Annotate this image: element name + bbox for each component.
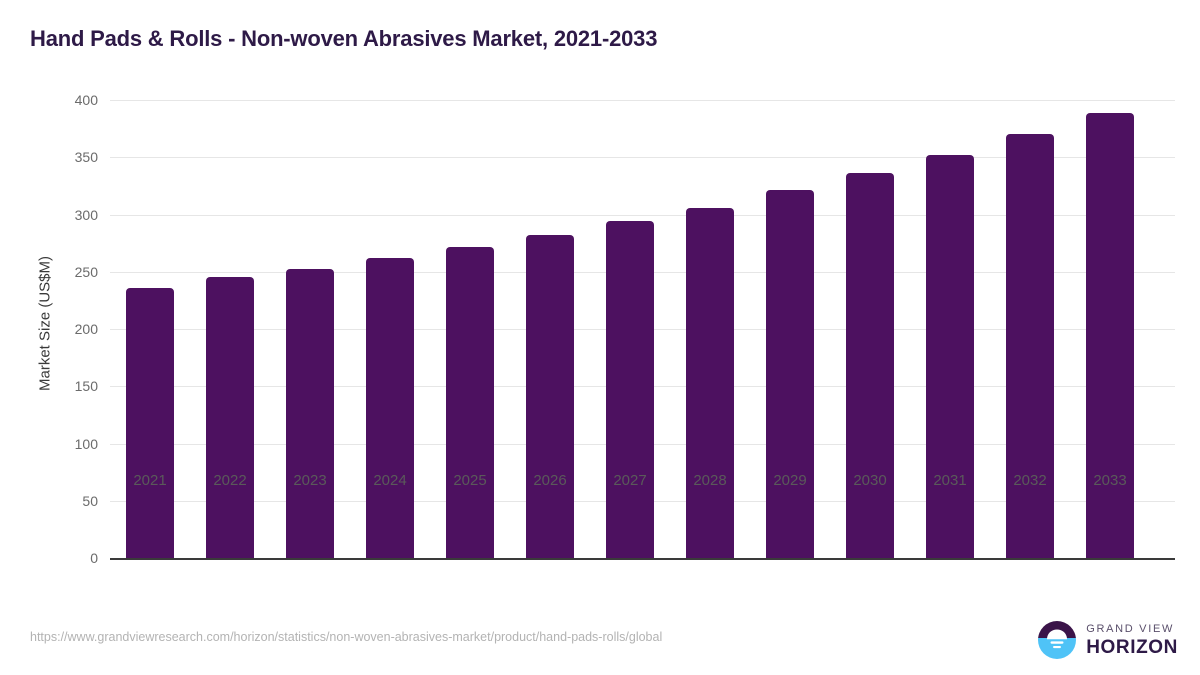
y-axis-tick-label: 150 [40,378,98,394]
y-axis-tick-label: 100 [40,436,98,452]
y-axis-tick-label: 300 [40,207,98,223]
y-axis-tick-label: 350 [40,149,98,165]
x-axis-tick-label: 2028 [670,472,750,489]
bar-slot [990,100,1070,558]
bar-slot [750,100,830,558]
brand-logo[interactable]: GRAND VIEW HORIZON [1037,618,1178,662]
bar-slot [590,100,670,558]
y-axis-tick-label: 0 [40,550,98,566]
bar-series [110,100,1175,558]
x-axis-tick-label: 2022 [190,472,270,489]
x-axis-tick-label: 2023 [270,472,350,489]
horizon-logo-icon [1037,620,1077,660]
bar-slot [670,100,750,558]
bar-slot [270,100,350,558]
x-axis-tick-label: 2029 [750,472,830,489]
x-axis-tick-label: 2033 [1070,472,1150,489]
bar-2021[interactable] [126,288,174,558]
bar-2033[interactable] [1086,113,1134,558]
bar-slot [1070,100,1150,558]
y-axis-tick-label: 400 [40,92,98,108]
bar-2027[interactable] [606,221,654,558]
bar-2031[interactable] [926,155,974,558]
bar-2022[interactable] [206,277,254,558]
x-axis-tick-label: 2032 [990,472,1070,489]
bar-slot [430,100,510,558]
bar-2026[interactable] [526,235,574,558]
x-axis-tick-label: 2030 [830,472,910,489]
logo-line-horizon: HORIZON [1086,638,1178,657]
y-axis-tick-label: 250 [40,264,98,280]
bar-slot [510,100,590,558]
bar-slot [190,100,270,558]
logo-wordmark: GRAND VIEW HORIZON [1086,624,1178,657]
bar-2029[interactable] [766,190,814,558]
x-axis-tick-label: 2024 [350,472,430,489]
x-axis-line [110,558,1175,560]
x-axis-tick-label: 2021 [110,472,190,489]
bar-slot [910,100,990,558]
bar-2025[interactable] [446,247,494,558]
chart-page: Hand Pads & Rolls - Non-woven Abrasives … [0,0,1200,675]
x-axis-tick-label: 2027 [590,472,670,489]
x-axis-tick-label: 2025 [430,472,510,489]
logo-line-grand-view: GRAND VIEW [1086,624,1178,635]
chart-plot-area: Market Size (US$M) 050100150200250300350… [0,0,1200,675]
y-axis-tick-label: 200 [40,321,98,337]
bar-slot [350,100,430,558]
source-url[interactable]: https://www.grandviewresearch.com/horizo… [30,630,662,644]
bar-2028[interactable] [686,208,734,558]
bar-slot [830,100,910,558]
bar-2024[interactable] [366,258,414,558]
y-axis-tick-label: 50 [40,493,98,509]
x-axis-tick-label: 2031 [910,472,990,489]
bar-2032[interactable] [1006,134,1054,558]
bar-2023[interactable] [286,269,334,558]
bar-2030[interactable] [846,173,894,558]
x-axis-tick-label: 2026 [510,472,590,489]
bar-slot [110,100,190,558]
